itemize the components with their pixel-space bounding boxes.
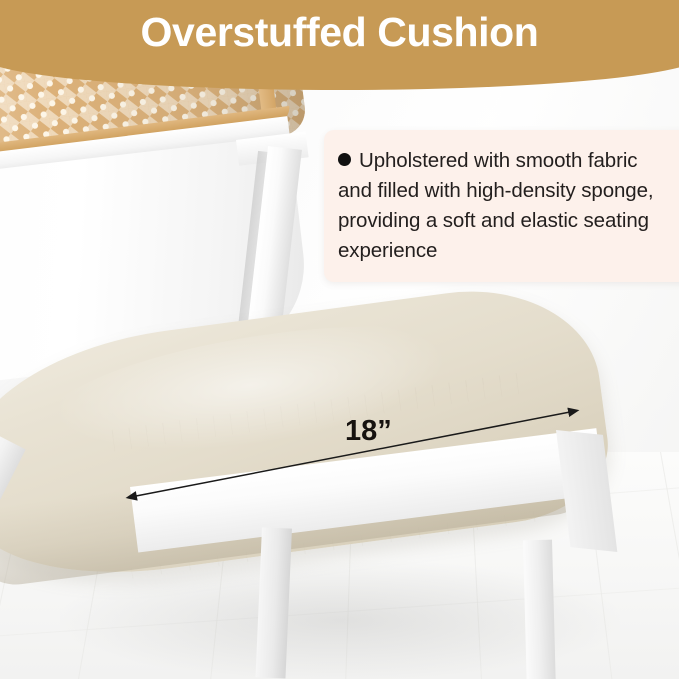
product-feature-image: Overstuffed Cushion Upholstered with smo… <box>0 0 679 679</box>
dimension-label: 18” <box>345 415 392 448</box>
banner-title: Overstuffed Cushion <box>0 6 679 58</box>
feature-callout-text-wrap: Upholstered with smooth fabric and fille… <box>338 146 671 266</box>
feature-callout-text: Upholstered with smooth fabric and fille… <box>338 149 654 262</box>
chair-leg-right <box>523 540 556 679</box>
bullet-point-icon <box>338 153 351 166</box>
feature-callout-box: Upholstered with smooth fabric and fille… <box>324 130 679 282</box>
